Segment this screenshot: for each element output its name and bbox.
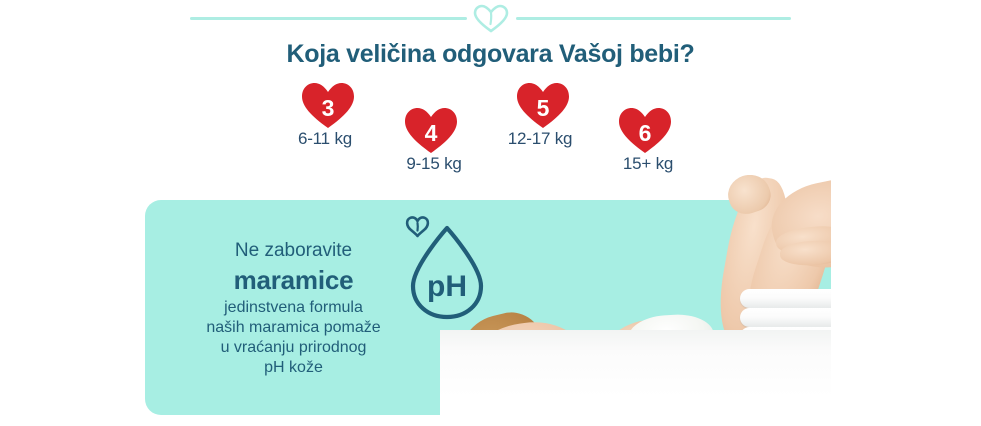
heart-icon: 5	[515, 80, 571, 130]
size-badge-4: 4 9-15 kg	[371, 105, 491, 174]
size-weight-label: 9-15 kg	[377, 154, 491, 174]
promo-sub-line-1: jedinstvena formula	[181, 298, 406, 318]
divider-line-right	[516, 17, 791, 20]
size-badge-group: 3 6-11 kg 4 9-15 kg 5 12-17 kg	[0, 80, 981, 170]
promo-banner: Koja veličina odgovara Vašoj bebi? 3 6-1…	[0, 0, 981, 426]
size-weight-label: 15+ kg	[591, 154, 705, 174]
promo-sub-line-4: pH kože	[181, 358, 406, 378]
photo-right-fade	[831, 175, 981, 426]
size-badge-6: 6 15+ kg	[585, 105, 705, 174]
heart-icon: 3	[300, 80, 356, 130]
size-weight-label: 6-11 kg	[262, 129, 388, 149]
divider-line-left	[190, 17, 467, 20]
heart-outline-icon	[472, 4, 510, 34]
top-divider	[0, 0, 981, 36]
page-title: Koja veličina odgovara Vašoj bebi?	[0, 40, 981, 69]
heart-icon: 6	[617, 105, 673, 155]
size-number: 5	[515, 80, 571, 130]
baby-product-photo: Pampers harmonie aqua Helps Restore Natu…	[440, 175, 981, 426]
promo-main-text: maramice	[181, 264, 406, 296]
heart-icon: 4	[403, 105, 459, 155]
promo-sub-line-3: u vraćanju prirodnog	[181, 338, 406, 358]
size-number: 3	[300, 80, 356, 130]
size-number: 6	[617, 105, 673, 155]
promo-sub-line-2: naših maramica pomaže	[181, 318, 406, 338]
promo-pre-text: Ne zaboravite	[181, 238, 406, 264]
size-number: 4	[403, 105, 459, 155]
size-badge-3: 3 6-11 kg	[268, 80, 388, 149]
promo-copy: Ne zaboravite maramice jedinstvena formu…	[181, 238, 406, 378]
